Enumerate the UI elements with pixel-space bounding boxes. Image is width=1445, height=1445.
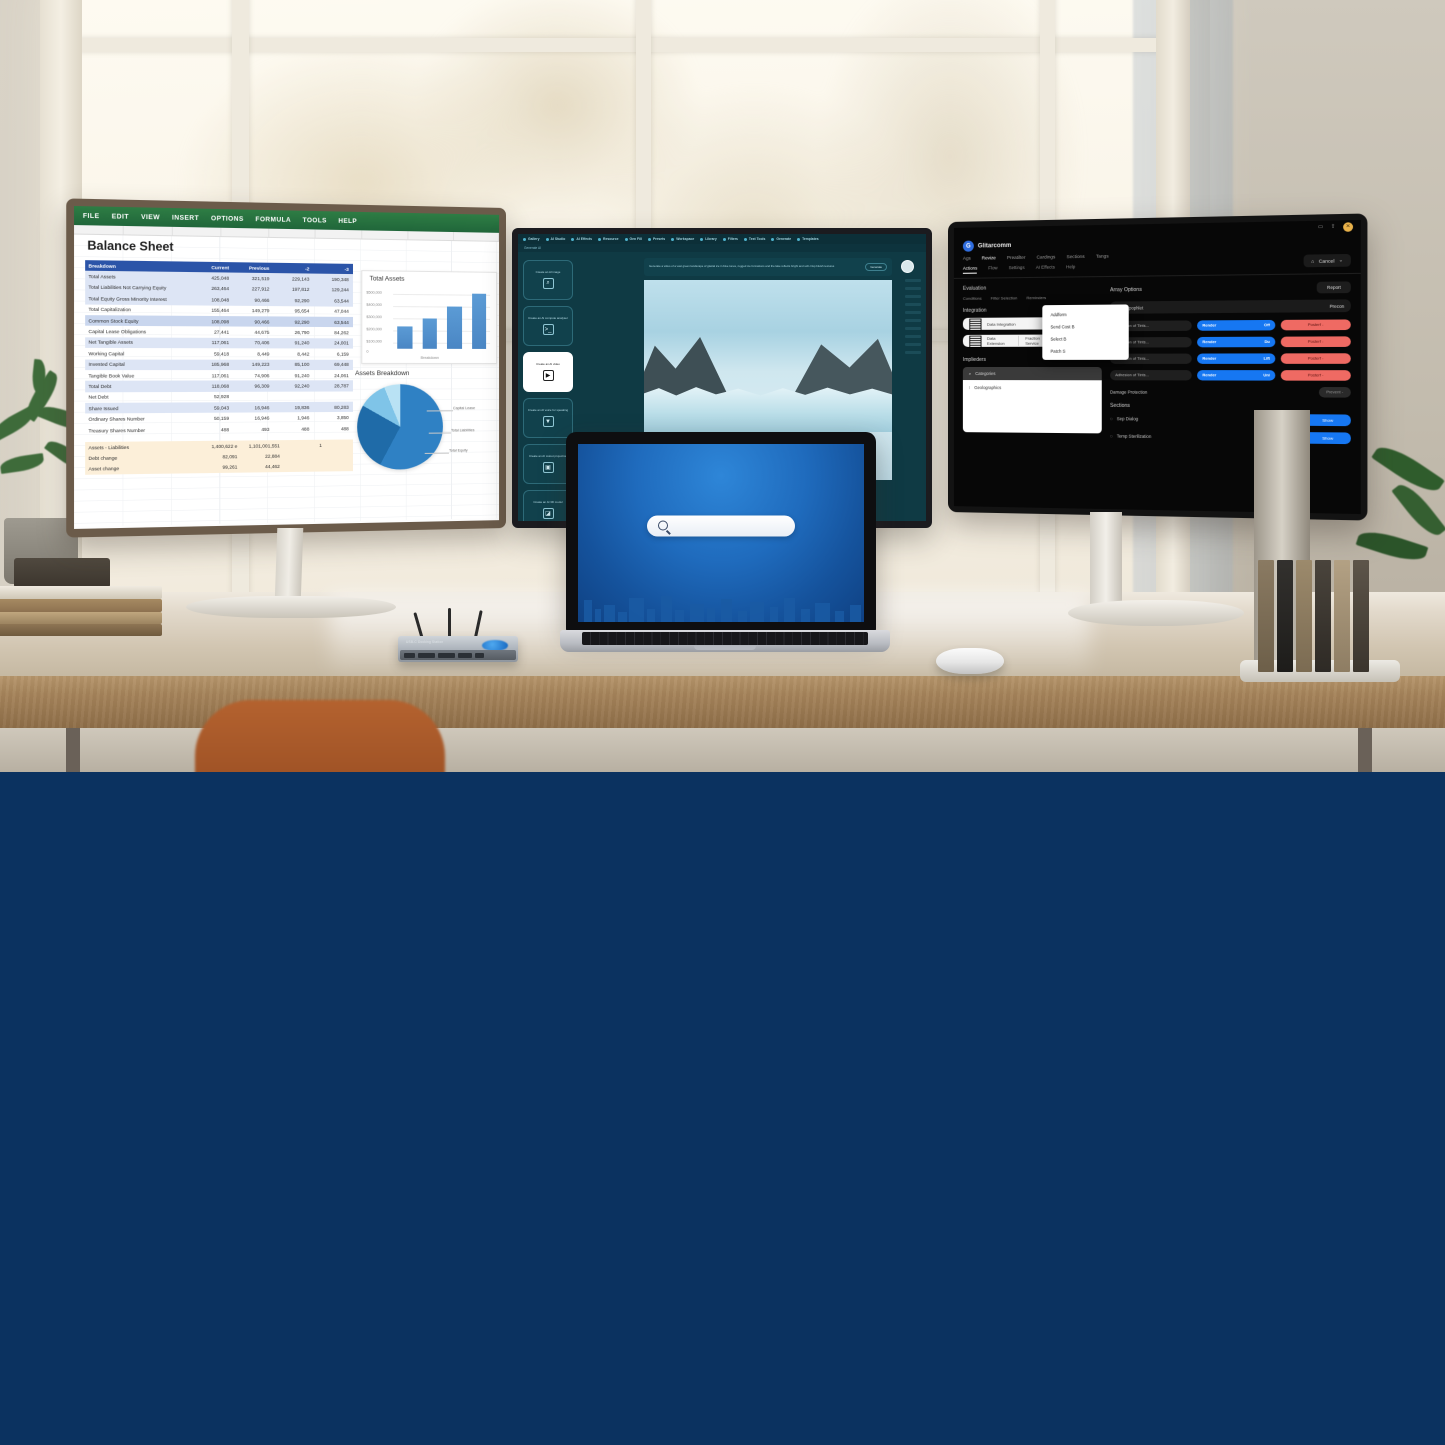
browser-address-bar[interactable]: Generate AI bbox=[518, 244, 926, 252]
bullet-icon: ⁝ bbox=[969, 385, 970, 390]
tab-actions[interactable]: Actions bbox=[963, 266, 977, 274]
radio-icon[interactable]: ◌ bbox=[1110, 433, 1113, 438]
menu-options[interactable]: OPTIONS bbox=[211, 215, 244, 223]
menu-view[interactable]: VIEW bbox=[141, 213, 160, 221]
dropdown-menu[interactable]: Addform Send Cost B Select B Patch S bbox=[1042, 304, 1128, 359]
prompt-text: Generate a video of a vast green landsca… bbox=[649, 265, 861, 269]
posterf-button[interactable]: Posterf - bbox=[1281, 319, 1351, 330]
menu-help[interactable]: HELP bbox=[338, 217, 357, 225]
spreadsheet-grid[interactable]: Balance Sheet Breakdown Current Previous… bbox=[74, 235, 499, 527]
create-ai-compute-card[interactable]: Create an AI compute analyser >_ bbox=[523, 306, 573, 346]
book-stack bbox=[0, 586, 170, 642]
image-icon: ⌕ bbox=[543, 278, 554, 289]
posterf-button[interactable]: Posterf - bbox=[1281, 353, 1351, 364]
features-panel: PRODUCT FEATURES Extend or duplicate up … bbox=[0, 772, 1445, 1445]
dock-label: USB-C Docking Station bbox=[406, 640, 443, 644]
computer-mouse[interactable] bbox=[936, 648, 1004, 674]
browser-tab[interactable]: AI Effects bbox=[571, 237, 592, 241]
menu-item[interactable]: Addform bbox=[1042, 308, 1128, 321]
subnav-reminders[interactable]: Reminders bbox=[1026, 295, 1046, 300]
report-button[interactable]: Report bbox=[1317, 281, 1351, 293]
table-row: Net Tangible Assets117,06170,40691,24024… bbox=[85, 337, 353, 349]
browser-tab[interactable]: Templates bbox=[797, 237, 819, 241]
y-tick: $100,000 bbox=[366, 339, 381, 343]
bar-series bbox=[397, 288, 486, 349]
search-placeholder: Categories bbox=[975, 371, 995, 376]
avatar[interactable] bbox=[901, 260, 914, 273]
col-breakdown: Breakdown bbox=[85, 263, 193, 270]
database-icon: ▤ bbox=[968, 331, 983, 351]
render-toggle[interactable]: RenderOff bbox=[1197, 320, 1275, 331]
book-row bbox=[1258, 560, 1378, 672]
bar bbox=[447, 307, 462, 349]
tab-settings[interactable]: Settings bbox=[1009, 265, 1025, 273]
posterf-button[interactable]: Posterf - bbox=[1281, 336, 1351, 347]
sheet-title: Balance Sheet bbox=[87, 240, 173, 254]
right-tool-rail[interactable] bbox=[902, 274, 924, 517]
desk-leg bbox=[66, 728, 80, 772]
desk-leg bbox=[1358, 728, 1372, 772]
prevent-button[interactable]: Prevent - bbox=[1318, 387, 1350, 398]
cube-icon: ◪ bbox=[543, 508, 554, 519]
address-text: Generate AI bbox=[524, 246, 541, 250]
y-tick: $500,000 bbox=[366, 291, 381, 295]
tab-revize[interactable]: Revize bbox=[982, 255, 996, 260]
generate-button[interactable]: Generate bbox=[865, 263, 887, 271]
browser-tab[interactable]: Gallery bbox=[523, 237, 540, 241]
table-row: Tangible Book Value117,06174,90691,24024… bbox=[85, 370, 353, 381]
tab-ags[interactable]: Ags bbox=[963, 256, 971, 261]
dock-port-row bbox=[400, 650, 516, 660]
show-button[interactable]: Show bbox=[1305, 432, 1351, 444]
city-skyline-wallpaper bbox=[578, 580, 864, 622]
laptop-trackpad-notch bbox=[694, 646, 756, 650]
menu-file[interactable]: FILE bbox=[83, 212, 100, 220]
monitor-center-stand-base bbox=[1068, 600, 1244, 626]
search-icon: ⌕ bbox=[969, 371, 971, 376]
col-minus3: -3 bbox=[314, 266, 353, 272]
sd-card-slot bbox=[458, 653, 472, 658]
search-icon bbox=[658, 521, 668, 531]
microphone-icon: ▼ bbox=[543, 416, 554, 427]
browser-tab[interactable]: AI Studio bbox=[546, 237, 566, 241]
array-options-header: Array Options Report bbox=[1110, 281, 1351, 295]
pie-label: Total Equity bbox=[449, 448, 468, 452]
browser-tab[interactable]: Library bbox=[700, 237, 717, 241]
browser-tab[interactable]: Gen Fill bbox=[625, 237, 642, 241]
precon-button[interactable]: Precon bbox=[1330, 303, 1345, 308]
y-tick: $300,000 bbox=[366, 315, 381, 319]
y-tick: $400,000 bbox=[366, 303, 381, 307]
balance-sheet-summary: Assets - Liabilities1,400,622 e1,101,001… bbox=[85, 439, 353, 475]
render-toggle[interactable]: RenderDu bbox=[1197, 337, 1275, 348]
monitor-left: FILE EDIT VIEW INSERT OPTIONS FORMULA TO… bbox=[66, 198, 506, 537]
render-toggle[interactable]: RenderLift bbox=[1197, 353, 1275, 363]
monitor-left-stand-base bbox=[186, 596, 396, 618]
browser-tab[interactable]: Workspace bbox=[671, 237, 694, 241]
bar bbox=[397, 326, 412, 348]
col-minus2: -2 bbox=[274, 266, 314, 272]
browser-tab[interactable]: Generate bbox=[771, 237, 791, 241]
sections-heading: Sections bbox=[1110, 403, 1351, 411]
laptop-screen bbox=[578, 444, 864, 622]
menu-item[interactable]: Send Cost B bbox=[1042, 320, 1128, 333]
tab-ai-effects[interactable]: AI Effects bbox=[1036, 264, 1055, 272]
left-panel: Evaluation Conditions Filter Selection R… bbox=[963, 284, 1102, 447]
usb-a-port bbox=[418, 653, 435, 658]
gapophlet-bar[interactable]: ⌂ Gapophlet Precon bbox=[1110, 299, 1351, 313]
category-list[interactable]: ⁝ Geolographics bbox=[963, 380, 1102, 433]
tab-tangs[interactable]: Tangs bbox=[1096, 253, 1109, 258]
posterf-button[interactable]: Posterf - bbox=[1281, 370, 1351, 381]
assets-breakdown-pie-chart: Assets Breakdown Capital Lease Total Lia… bbox=[355, 370, 497, 493]
pie-slices bbox=[357, 384, 443, 470]
create-ai-image-card[interactable]: Create an AI image ⌕ bbox=[523, 260, 573, 300]
evaluation-heading: Evaluation bbox=[963, 284, 1102, 292]
terminal-icon: >_ bbox=[543, 324, 554, 335]
damage-protection-row: Damage Protection Prevent - bbox=[1110, 386, 1351, 397]
search-input[interactable] bbox=[647, 515, 795, 536]
col-previous: Previous bbox=[233, 265, 273, 271]
laptop-keyboard[interactable] bbox=[582, 632, 868, 645]
chevron-down-icon: ⌄ bbox=[1339, 257, 1343, 263]
render-toggle[interactable]: RenderUni bbox=[1197, 370, 1275, 380]
browser-tab[interactable]: Resource bbox=[598, 237, 618, 241]
y-tick: 0 bbox=[366, 350, 368, 354]
show-button[interactable]: Show bbox=[1305, 414, 1351, 426]
usb-a-port bbox=[438, 653, 455, 658]
subnav-filter[interactable]: Filter Selection bbox=[991, 295, 1018, 300]
radio-icon[interactable]: ◌ bbox=[1110, 416, 1113, 421]
menu-item[interactable]: Patch S bbox=[1042, 344, 1128, 356]
x-axis-label: Breakdown bbox=[362, 356, 496, 360]
pie-label: Total Liabilities bbox=[451, 428, 474, 432]
frame-icon: ▣ bbox=[543, 462, 554, 473]
table-row: Total Debt118,06896,30992,24028,787 bbox=[85, 381, 353, 392]
category-search-input[interactable]: ⌕ Categories bbox=[963, 367, 1102, 380]
monitor-left-stand-neck bbox=[275, 528, 304, 602]
section-row: ◌ Sep Dialog Show bbox=[1110, 413, 1351, 426]
share-icon[interactable]: ⇪ bbox=[1331, 224, 1336, 230]
office-desk-photo: FILE EDIT VIEW INSERT OPTIONS FORMULA TO… bbox=[0, 0, 1445, 772]
bar-chart-title: Total Assets bbox=[362, 271, 496, 284]
table-row: Working Capital59,4188,4498,4426,159 bbox=[85, 348, 353, 359]
tab-help[interactable]: Help bbox=[1066, 264, 1075, 272]
menu-formula[interactable]: FORMULA bbox=[255, 215, 291, 223]
menu-edit[interactable]: EDIT bbox=[112, 213, 129, 221]
summary-row: Asset change99,26144,462 bbox=[85, 461, 353, 475]
tab-sections[interactable]: Sections bbox=[1067, 254, 1085, 259]
usb-c-docking-station: USB-C Docking Station bbox=[398, 636, 518, 662]
y-tick: $200,000 bbox=[366, 327, 381, 331]
bar bbox=[422, 318, 437, 348]
laptop bbox=[560, 432, 890, 672]
action-row[interactable]: Adhesion of Tints... RenderLift Posterf … bbox=[1110, 353, 1351, 364]
laptop-lid bbox=[566, 432, 876, 632]
browser-tab-strip[interactable]: Gallery AI Studio AI Effects Resource Ge… bbox=[518, 234, 926, 244]
action-row[interactable]: Adhesion of Tints... RenderDu Posterf - bbox=[1110, 336, 1351, 347]
brand-name: Glitarcomm bbox=[978, 242, 1011, 249]
section-row: ◌ Temp Sterilization Show bbox=[1110, 430, 1351, 444]
lock-icon: ⌂ bbox=[1311, 258, 1314, 263]
action-row[interactable]: Adhesion of Tints... RenderUni Posterf - bbox=[1110, 370, 1351, 381]
office-chair bbox=[195, 700, 445, 772]
evaluation-subnav[interactable]: Conditions Filter Selection Reminders bbox=[963, 294, 1102, 300]
implieders-block: Implieders ⌕ Categories ⁝ Geolographics bbox=[963, 357, 1102, 434]
comment-icon[interactable]: ▭ bbox=[1318, 224, 1323, 230]
brand-logo-icon: G bbox=[963, 241, 974, 252]
menu-insert[interactable]: INSERT bbox=[172, 214, 199, 222]
total-assets-bar-chart: Total Assets $500,000 $400,000 $300,000 … bbox=[361, 270, 497, 364]
bar bbox=[472, 294, 486, 349]
play-icon: ▶ bbox=[543, 370, 554, 381]
menu-item[interactable]: Select B bbox=[1042, 332, 1128, 345]
pie-chart-title: Assets Breakdown bbox=[355, 370, 497, 377]
balance-sheet-table: Breakdown Current Previous -2 -3 Total A… bbox=[85, 260, 353, 436]
browser-tab[interactable]: Text Tools bbox=[744, 237, 765, 241]
table-row: Invested Capital185,968149,22385,10069,4… bbox=[85, 359, 353, 370]
close-icon[interactable]: ✕ bbox=[1343, 222, 1353, 232]
tab-cardings[interactable]: Cardings bbox=[1037, 254, 1056, 259]
prompt-bar[interactable]: Generate a video of a vast green landsca… bbox=[644, 258, 892, 276]
array-options-heading: Array Options bbox=[1110, 286, 1142, 292]
product-feature-image: FILE EDIT VIEW INSERT OPTIONS FORMULA TO… bbox=[0, 0, 1445, 1445]
desk-accessory-block bbox=[14, 558, 110, 588]
tab-preatilter[interactable]: Preatilter bbox=[1007, 255, 1026, 260]
tab-flow[interactable]: Flow bbox=[988, 265, 997, 273]
action-row[interactable]: Adhesion of Tints... RenderOff Posterf - bbox=[1110, 319, 1351, 331]
cancel-button[interactable]: ⌂ Cancel ⌄ bbox=[1304, 254, 1351, 267]
subnav-conditions[interactable]: Conditions bbox=[963, 296, 982, 301]
create-ai-video-card[interactable]: Create an AI video ▶ bbox=[523, 352, 573, 392]
list-item[interactable]: ⁝ Geolographics bbox=[969, 385, 1096, 390]
usb-c-port bbox=[404, 653, 415, 658]
table-row: Treasury Shares Number488493488488 bbox=[85, 423, 353, 436]
menu-tools[interactable]: TOOLS bbox=[303, 216, 327, 224]
right-panel: Array Options Report ⌂ Gapophlet Precon … bbox=[1110, 281, 1351, 450]
browser-tab[interactable]: Presets bbox=[648, 237, 665, 241]
browser-tab[interactable]: Filters bbox=[723, 237, 738, 241]
monitor-center-stand-neck bbox=[1090, 512, 1122, 608]
micro-sd-slot bbox=[475, 653, 484, 658]
spreadsheet-app: FILE EDIT VIEW INSERT OPTIONS FORMULA TO… bbox=[74, 206, 499, 529]
col-current: Current bbox=[193, 264, 234, 270]
pie-label: Capital Lease bbox=[453, 406, 475, 410]
